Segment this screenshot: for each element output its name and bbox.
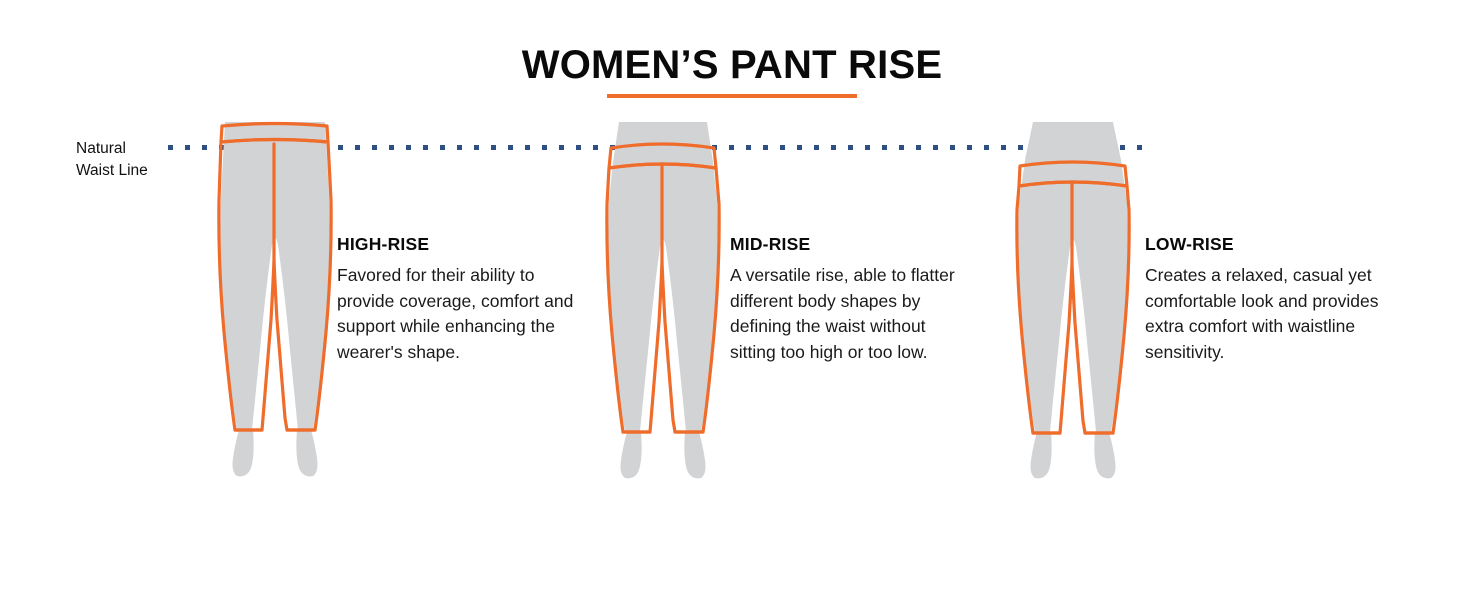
body-high-rise: Favored for their ability to provide cov… [337, 263, 577, 365]
body-mid-rise: A versatile rise, able to flatter differ… [730, 263, 970, 365]
heading-low-rise: LOW-RISE [1145, 233, 1395, 255]
description-high-rise: HIGH-RISE Favored for their ability to p… [337, 233, 577, 365]
natural-waist-line-label: Natural Waist Line [76, 138, 148, 182]
page-title: WOMEN’S PANT RISE [0, 42, 1464, 88]
description-mid-rise: MID-RISE A versatile rise, able to flatt… [730, 233, 970, 365]
heading-high-rise: HIGH-RISE [337, 233, 577, 255]
pant-illustration-mid-rise [583, 100, 743, 490]
heading-mid-rise: MID-RISE [730, 233, 970, 255]
title-block: WOMEN’S PANT RISE [0, 42, 1464, 98]
infographic-canvas: WOMEN’S PANT RISE Natural Waist Line [0, 0, 1464, 600]
pant-illustration-low-rise [993, 100, 1153, 490]
title-underline-accent [607, 94, 857, 98]
pant-illustration-high-rise [195, 100, 355, 490]
description-low-rise: LOW-RISE Creates a relaxed, casual yet c… [1145, 233, 1395, 365]
body-low-rise: Creates a relaxed, casual yet comfortabl… [1145, 263, 1395, 365]
